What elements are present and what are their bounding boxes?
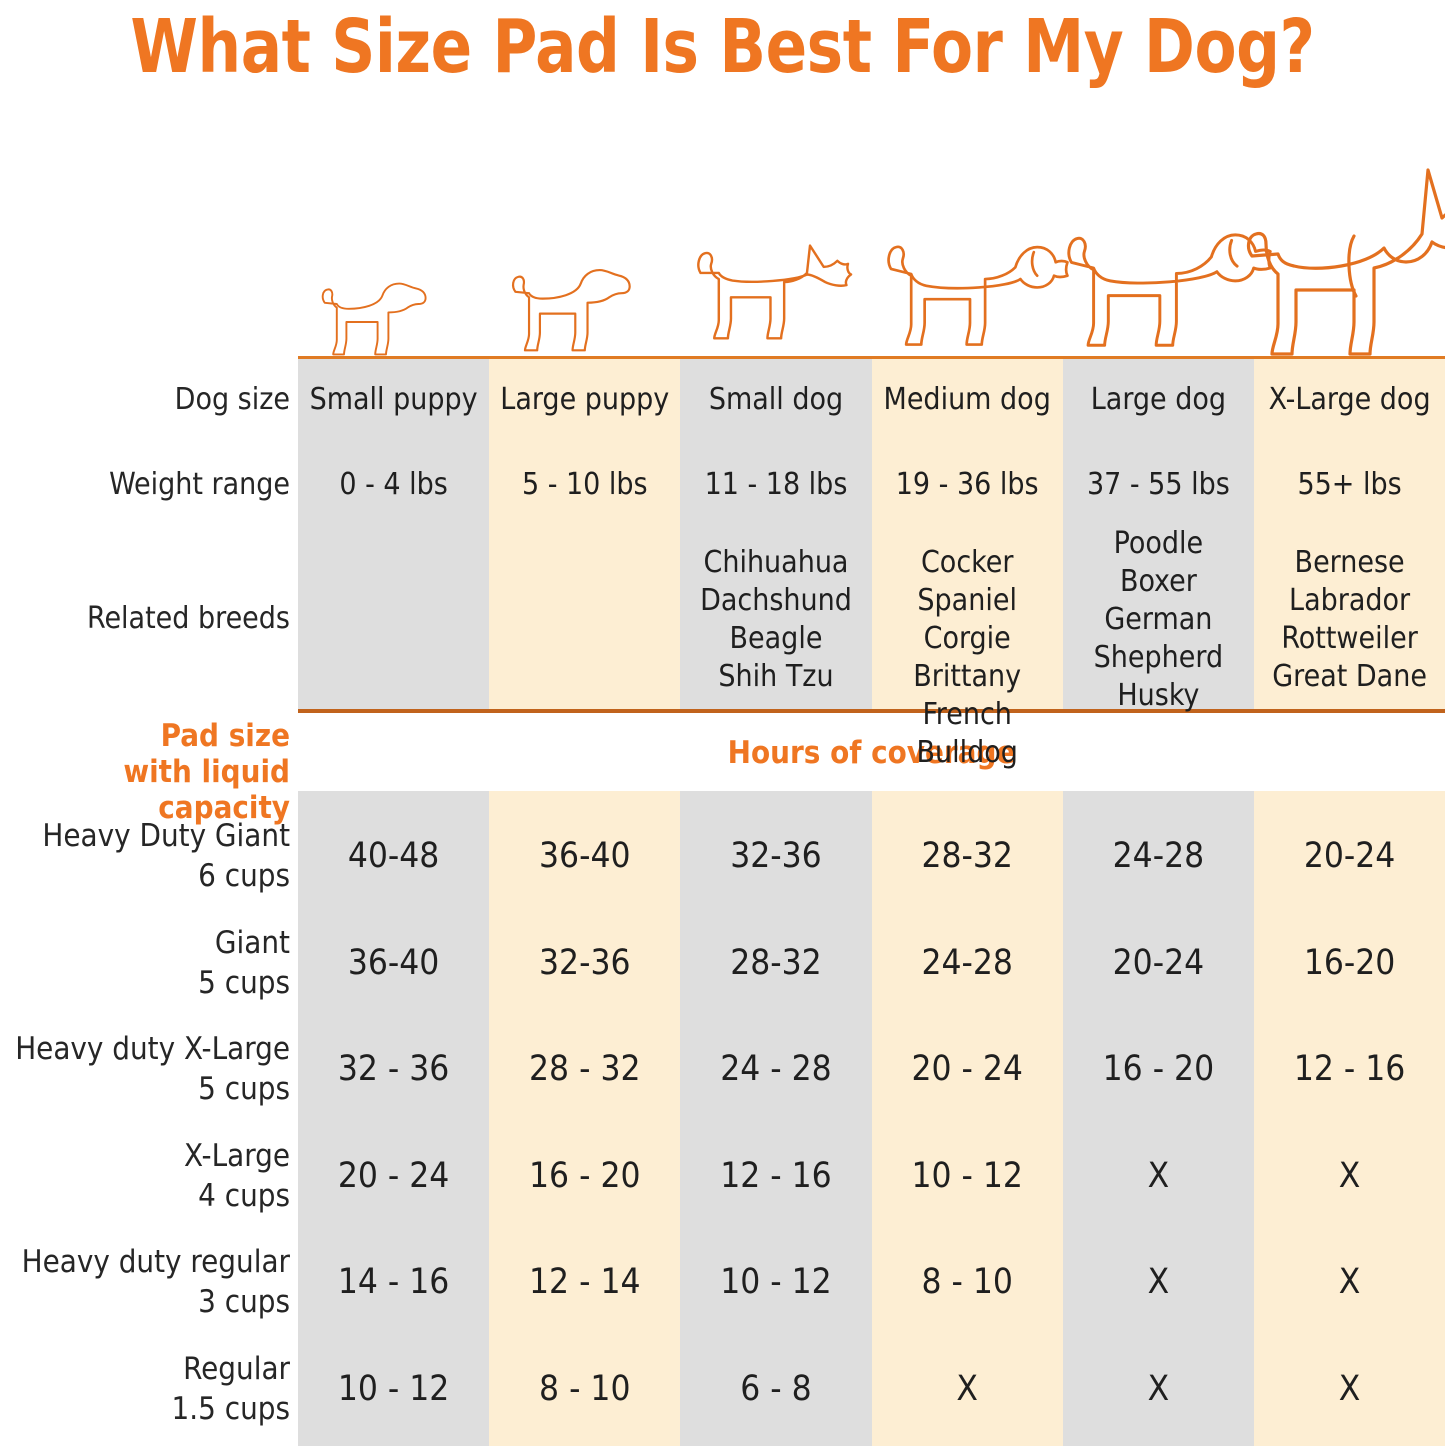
cell-dog-size-large-dog: Large dog [1063,381,1254,419]
pad-value-heavy-duty-x-large-x-large-dog: 12 - 16 [1254,1048,1445,1090]
row-header-related-breeds: Related breeds [87,600,290,638]
pad-value-heavy-duty-giant-small-dog: 32-36 [680,835,871,877]
cell-related-breeds-medium-dog: Cocker Spaniel Corgie Brittany French Bu… [872,544,1063,772]
page-title: What Size Pad Is Best For My Dog? [58,4,1387,90]
dog-icon-small-puppy [323,284,426,355]
pad-row-label-x-large: X-Large 4 cups [184,1136,290,1216]
cell-weight-range-large-dog: 37 - 55 lbs [1063,466,1254,504]
pad-value-heavy-duty-x-large-small-puppy: 32 - 36 [298,1048,489,1090]
pad-value-heavy-duty-regular-small-puppy: 14 - 16 [298,1261,489,1303]
cell-dog-size-x-large-dog: X-Large dog [1254,381,1445,419]
pad-value-giant-large-dog: 20-24 [1063,942,1254,984]
column-stripe-small-puppy [298,791,489,1446]
pad-value-x-large-small-puppy: 20 - 24 [298,1155,489,1197]
dog-icon-x-large-dog [1249,170,1445,354]
pad-value-regular-small-puppy: 10 - 12 [298,1368,489,1410]
dog-icon-large-puppy [513,270,630,350]
pad-value-giant-large-puppy: 32-36 [489,942,680,984]
pad-value-regular-large-dog: X [1063,1368,1254,1410]
cell-dog-size-small-puppy: Small puppy [298,381,489,419]
pad-size-section-label: Pad size with liquid capacity [0,718,290,826]
pad-value-giant-small-puppy: 36-40 [298,942,489,984]
pad-value-heavy-duty-giant-large-puppy: 36-40 [489,835,680,877]
pad-row-label-heavy-duty-regular: Heavy duty regular 3 cups [22,1242,290,1322]
cell-dog-size-small-dog: Small dog [680,381,871,419]
pad-row-label-heavy-duty-x-large: Heavy duty X-Large 5 cups [15,1029,290,1109]
column-stripe-medium-dog [872,791,1063,1446]
column-stripe-large-puppy [489,791,680,1446]
pad-value-x-large-x-large-dog: X [1254,1155,1445,1197]
pad-value-heavy-duty-giant-large-dog: 24-28 [1063,835,1254,877]
pad-value-regular-x-large-dog: X [1254,1368,1445,1410]
pad-value-heavy-duty-giant-x-large-dog: 20-24 [1254,835,1445,877]
pad-value-giant-x-large-dog: 16-20 [1254,942,1445,984]
dog-silhouettes [298,150,1445,358]
cell-dog-size-large-puppy: Large puppy [489,381,680,419]
pad-row-label-heavy-duty-giant: Heavy Duty Giant 6 cups [42,816,290,896]
pad-value-giant-medium-dog: 24-28 [872,942,1063,984]
pad-value-heavy-duty-regular-small-dog: 10 - 12 [680,1261,871,1303]
pad-value-heavy-duty-x-large-large-dog: 16 - 20 [1063,1048,1254,1090]
column-stripe-x-large-dog [1254,791,1445,1446]
pad-value-heavy-duty-regular-large-dog: X [1063,1261,1254,1303]
pad-value-regular-small-dog: 6 - 8 [680,1368,871,1410]
dog-icon-medium-dog [889,247,1068,345]
pad-value-regular-medium-dog: X [872,1368,1063,1410]
pad-value-heavy-duty-regular-large-puppy: 12 - 14 [489,1261,680,1303]
pad-value-heavy-duty-regular-x-large-dog: X [1254,1261,1445,1303]
pad-value-heavy-duty-regular-medium-dog: 8 - 10 [872,1261,1063,1303]
pad-value-heavy-duty-giant-medium-dog: 28-32 [872,835,1063,877]
pad-value-x-large-large-puppy: 16 - 20 [489,1155,680,1197]
dog-icon-small-dog [698,246,851,339]
pad-value-heavy-duty-x-large-small-dog: 24 - 28 [680,1048,871,1090]
pad-value-x-large-small-dog: 12 - 16 [680,1155,871,1197]
row-header-weight-range: Weight range [109,466,290,504]
cell-weight-range-x-large-dog: 55+ lbs [1254,466,1445,504]
pad-value-giant-small-dog: 28-32 [680,942,871,984]
pad-value-x-large-medium-dog: 10 - 12 [872,1155,1063,1197]
infographic-root: What Size Pad Is Best For My Dog? [0,0,1445,1446]
row-header-dog-size: Dog size [175,381,290,419]
cell-weight-range-medium-dog: 19 - 36 lbs [872,466,1063,504]
cell-weight-range-small-puppy: 0 - 4 lbs [298,466,489,504]
cell-weight-range-large-puppy: 5 - 10 lbs [489,466,680,504]
pad-value-x-large-large-dog: X [1063,1155,1254,1197]
column-stripe-large-dog [1063,791,1254,1446]
pad-value-heavy-duty-x-large-medium-dog: 20 - 24 [872,1048,1063,1090]
table-top-rule [298,356,1445,359]
cell-related-breeds-large-dog: Poodle Boxer German Shepherd Husky [1063,525,1254,715]
pad-value-heavy-duty-x-large-large-puppy: 28 - 32 [489,1048,680,1090]
pad-row-label-giant: Giant 5 cups [198,923,290,1003]
cell-weight-range-small-dog: 11 - 18 lbs [680,466,871,504]
dog-icon-large-dog [1069,235,1270,345]
column-stripe-small-dog [680,791,871,1446]
cell-dog-size-medium-dog: Medium dog [872,381,1063,419]
pad-row-label-regular: Regular 1.5 cups [172,1349,290,1429]
pad-value-regular-large-puppy: 8 - 10 [489,1368,680,1410]
pad-value-heavy-duty-giant-small-puppy: 40-48 [298,835,489,877]
cell-related-breeds-x-large-dog: Bernese Labrador Rottweiler Great Dane [1254,544,1445,696]
cell-related-breeds-small-dog: Chihuahua Dachshund Beagle Shih Tzu [680,544,871,696]
